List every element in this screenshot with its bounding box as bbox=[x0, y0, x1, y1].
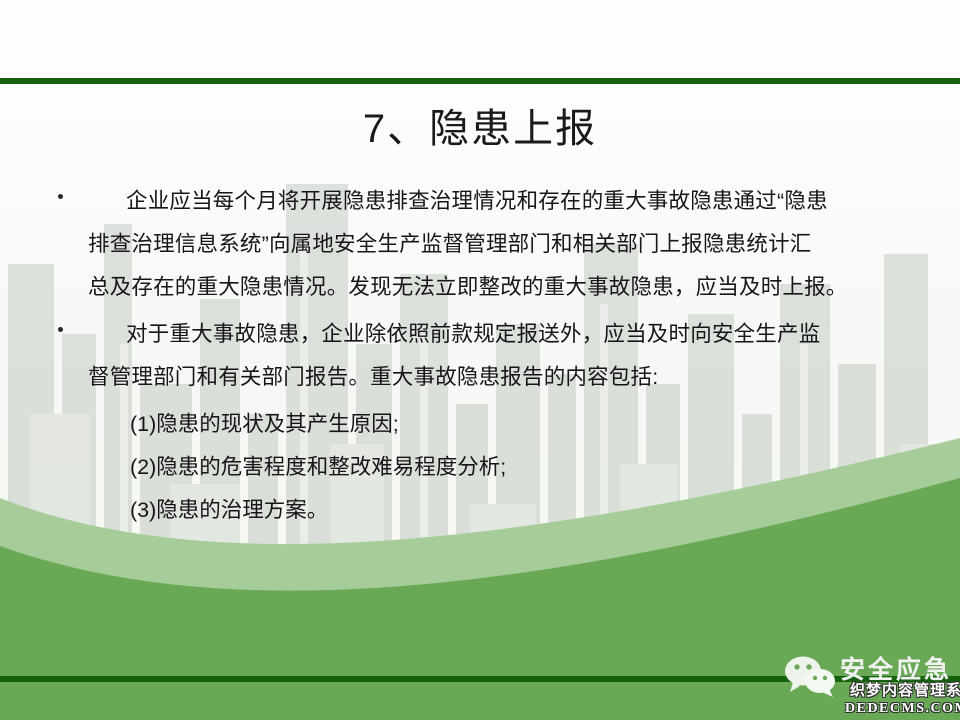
top-green-rule bbox=[0, 78, 960, 84]
top-white-band bbox=[0, 0, 960, 78]
watermark: 安全应急 织梦内容管理系统 DEDECMS.COM bbox=[782, 648, 960, 720]
numbered-item: (3)隐患的治理方案。 bbox=[0, 489, 960, 532]
paragraph-line: 对于重大事故隐患，企业除依照前款规定报送外，应当及时向安全生产监 bbox=[88, 313, 924, 356]
bullet-paragraph-2: 对于重大事故隐患，企业除依照前款规定报送外，应当及时向安全生产监 督管理部门和有… bbox=[0, 313, 960, 399]
bullet-point-icon bbox=[58, 327, 63, 332]
slide-canvas: 7、隐患上报 企业应当每个月将开展隐患排查治理情况和存在的重大事故隐患通过“隐患… bbox=[0, 0, 960, 720]
paragraph-line: 排查治理信息系统”向属地安全生产监督管理部门和相关部门上报隐患统计汇 bbox=[88, 223, 924, 266]
numbered-item: (1)隐患的现状及其产生原因; bbox=[0, 403, 960, 446]
paragraph-line: 企业应当每个月将开展隐患排查治理情况和存在的重大事故隐患通过“隐患 bbox=[88, 180, 924, 223]
watermark-overlay-domain: DEDECMS.COM bbox=[845, 700, 960, 717]
wechat-icon bbox=[782, 654, 838, 698]
bullet-point-icon bbox=[58, 194, 63, 199]
slide-title: 7、隐患上报 bbox=[0, 101, 960, 157]
paragraph-line: 督管理部门和有关部门报告。重大事故隐患报告的内容包括: bbox=[88, 356, 924, 399]
paragraph-line: 总及存在的重大隐患情况。发现无法立即整改的重大事故隐患，应当及时上报。 bbox=[88, 266, 924, 309]
numbered-item: (2)隐患的危害程度和整改难易程度分析; bbox=[0, 446, 960, 489]
slide-body: 企业应当每个月将开展隐患排查治理情况和存在的重大事故隐患通过“隐患 排查治理信息… bbox=[0, 180, 960, 532]
watermark-overlay-cn: 织梦内容管理系统 bbox=[850, 682, 960, 700]
bullet-paragraph-1: 企业应当每个月将开展隐患排查治理情况和存在的重大事故隐患通过“隐患 排查治理信息… bbox=[0, 180, 960, 309]
